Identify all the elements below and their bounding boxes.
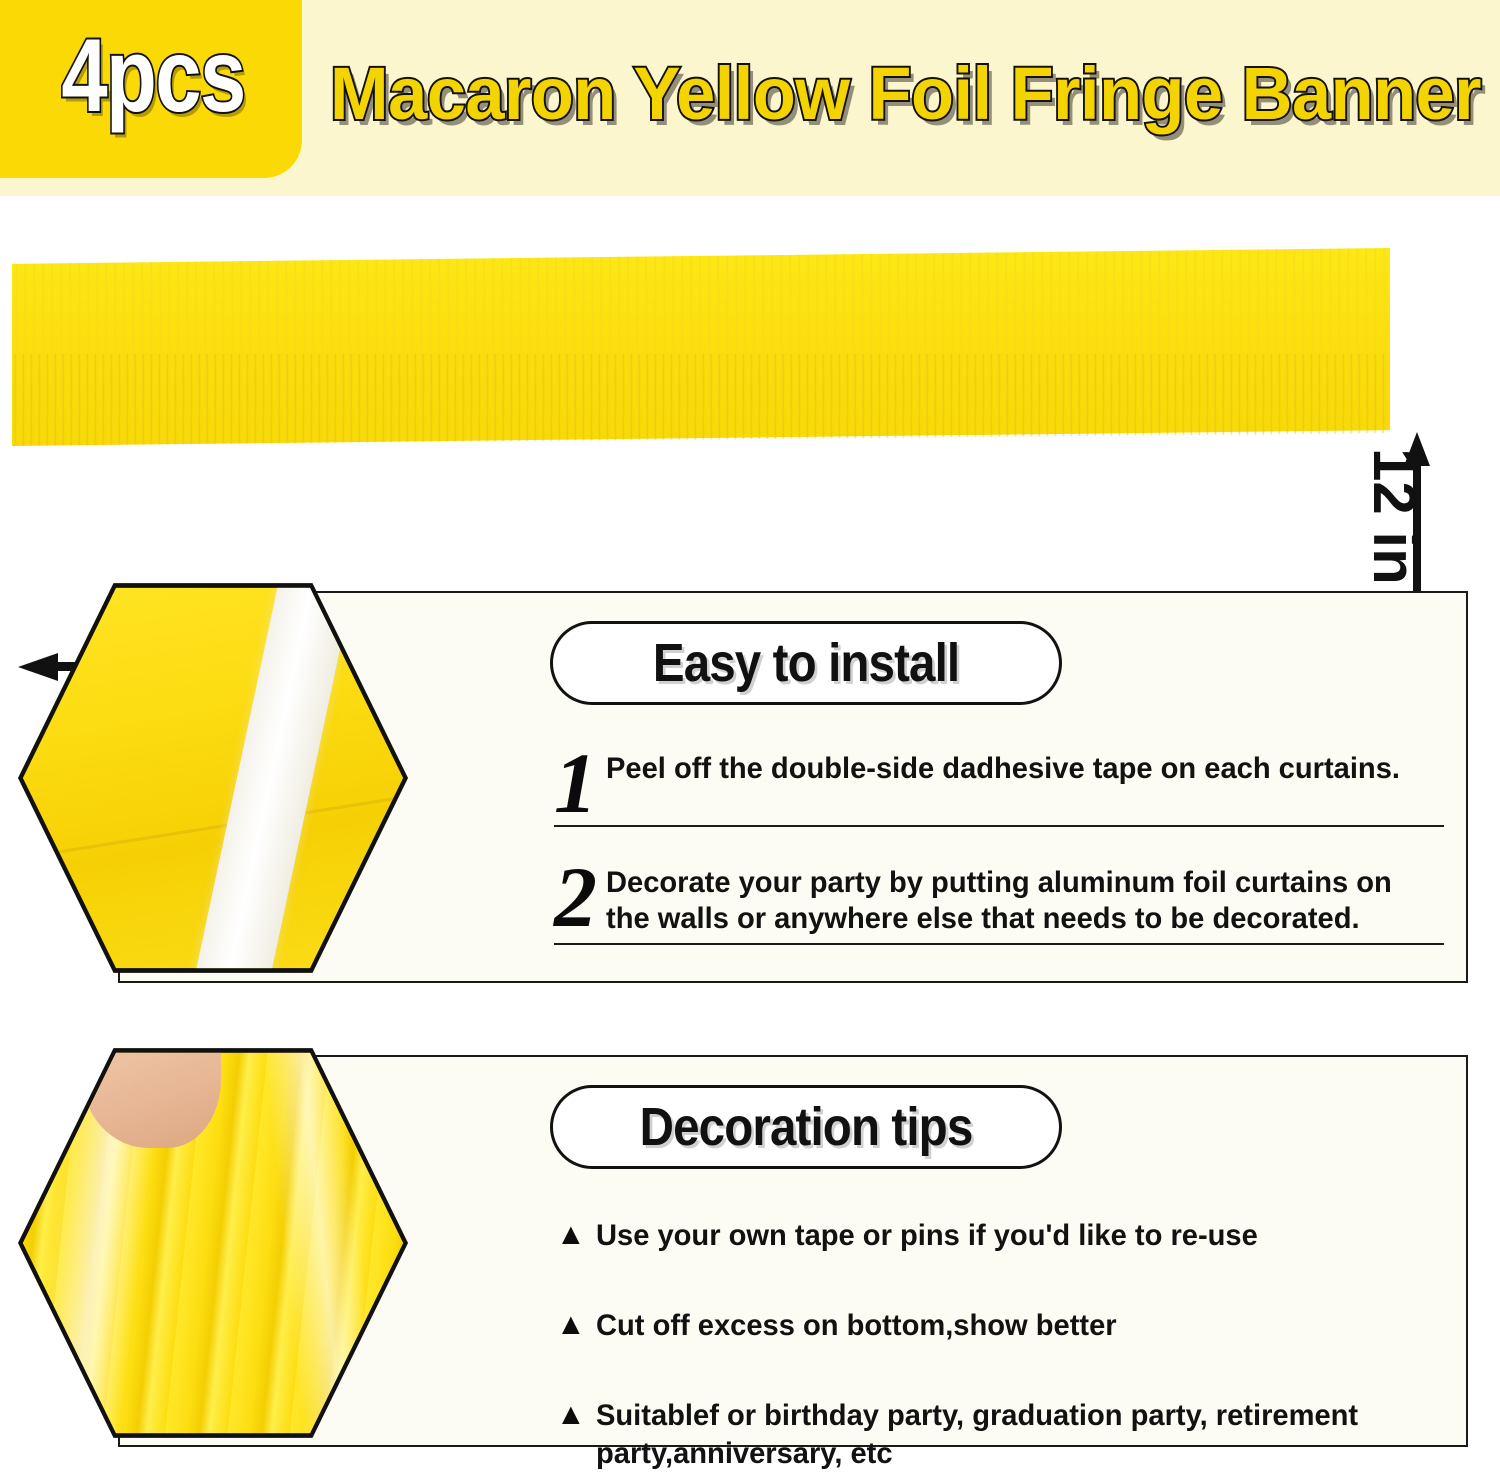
tip-row: ▲ Cut off excess on bottom,show better bbox=[556, 1307, 1446, 1345]
quantity-badge-label: 4pcs bbox=[50, 24, 256, 128]
tips-photo-hexagon bbox=[14, 1040, 412, 1446]
quantity-badge: 4pcs bbox=[0, 0, 302, 178]
tip-text: Use your own tape or pins if you'd like … bbox=[596, 1217, 1421, 1255]
hero-product-zone: 12 in 10 ft bbox=[0, 196, 1500, 566]
easy-to-install-heading-pill: Easy to install bbox=[550, 621, 1062, 705]
install-step-text: Decorate your party by putting aluminum … bbox=[606, 865, 1419, 937]
tip-row: ▲ Suitablef or birthday party, graduatio… bbox=[556, 1397, 1446, 1473]
fringe-banner-image bbox=[12, 248, 1390, 446]
page-title: Macaron Yellow Foil Fringe Banner bbox=[330, 54, 1432, 134]
fringe-banner-strand-tips bbox=[12, 354, 1390, 446]
hexagon-photo-fringe-strips bbox=[19, 1045, 407, 1441]
easy-to-install-heading-text: Easy to install bbox=[653, 635, 959, 691]
easy-to-install-body: Easy to install 1 Peel off the double-si… bbox=[532, 593, 1470, 981]
foil-sheet-with-tape bbox=[19, 580, 407, 976]
tip-text: Cut off excess on bottom,show better bbox=[596, 1307, 1421, 1345]
decoration-tips-heading-text: Decoration tips bbox=[640, 1099, 973, 1155]
install-step-row: 2 Decorate your party by putting aluminu… bbox=[554, 865, 1444, 945]
install-photo-hexagon bbox=[14, 575, 412, 981]
install-step-row: 1 Peel off the double-side dadhesive tap… bbox=[554, 751, 1444, 827]
foil-crease bbox=[19, 789, 407, 865]
install-step-number: 2 bbox=[554, 861, 606, 933]
triangle-bullet-icon: ▲ bbox=[556, 1217, 596, 1253]
triangle-bullet-icon: ▲ bbox=[556, 1307, 596, 1343]
tip-row: ▲ Use your own tape or pins if you'd lik… bbox=[556, 1217, 1446, 1255]
install-step-text: Peel off the double-side dadhesive tape … bbox=[606, 751, 1419, 787]
hexagon-photo-adhesive-tape bbox=[19, 580, 407, 976]
triangle-bullet-icon: ▲ bbox=[556, 1397, 596, 1433]
decoration-tips-body: Decoration tips ▲ Use your own tape or p… bbox=[532, 1057, 1470, 1445]
decoration-tips-heading-pill: Decoration tips bbox=[550, 1085, 1062, 1169]
install-step-number: 1 bbox=[554, 747, 606, 819]
tip-text: Suitablef or birthday party, graduation … bbox=[596, 1397, 1421, 1473]
